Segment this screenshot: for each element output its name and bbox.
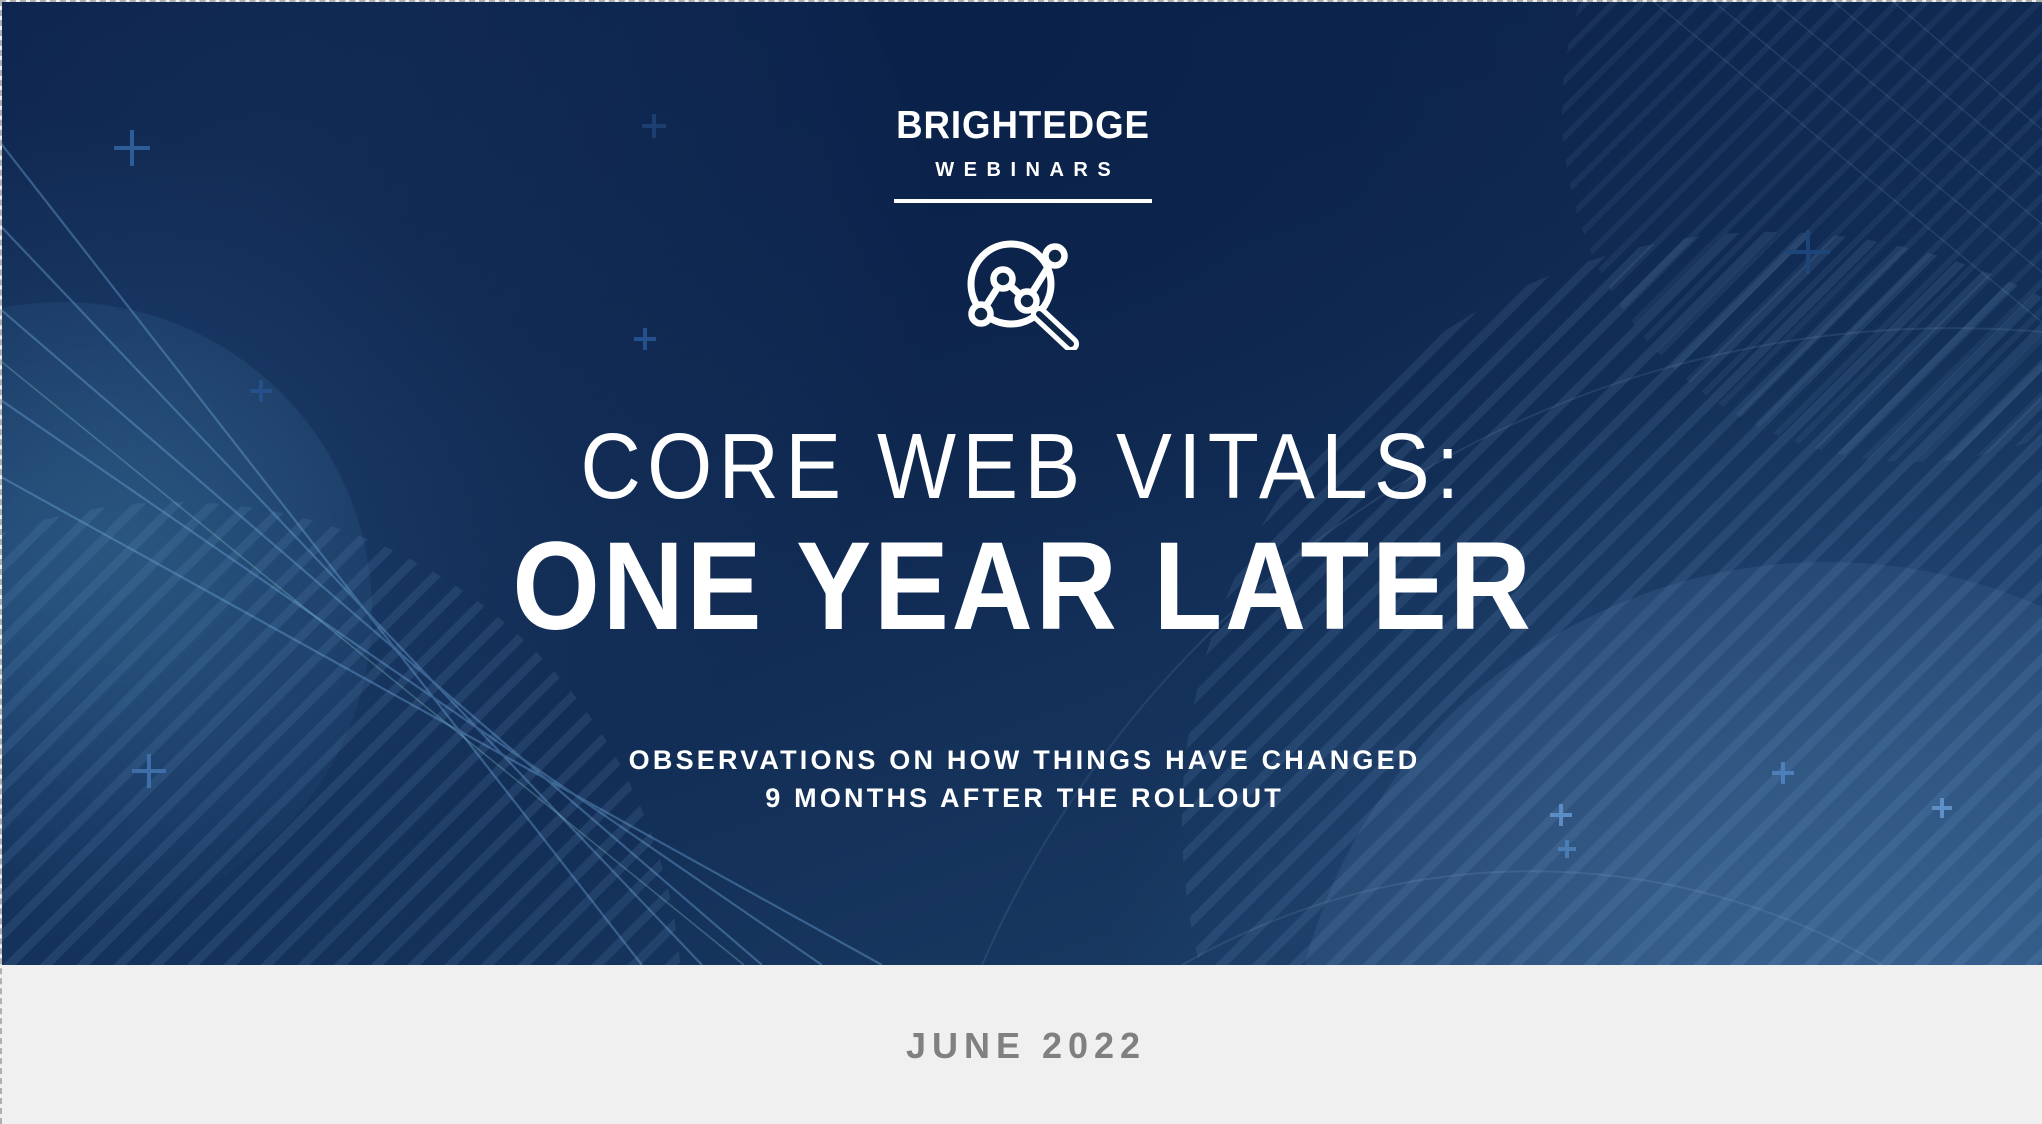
subtitle-line-2: 9 MONTHS AFTER THE ROLLOUT [2, 779, 2042, 817]
subtitle-line-1: OBSERVATIONS ON HOW THINGS HAVE CHANGED [2, 741, 2042, 779]
brand-logo-subtitle: WEBINARS [888, 160, 1158, 180]
presentation-slide: BRIGHTEDGE WEBINARS [0, 0, 2042, 1124]
page-title: CORE WEB VITALS: ONE YEAR LATER [2, 417, 2042, 649]
brand-logo: BRIGHTEDGE WEBINARS [888, 106, 1158, 203]
slide-footer: JUNE 2022 [2, 965, 2042, 1124]
footer-date: JUNE 2022 [900, 1025, 1146, 1067]
title-line-2: ONE YEAR LATER [104, 524, 1942, 649]
page-subtitle: OBSERVATIONS ON HOW THINGS HAVE CHANGED … [2, 741, 2042, 818]
analytics-magnifier-icon [959, 228, 1087, 355]
hero-background: BRIGHTEDGE WEBINARS [2, 2, 2042, 965]
brand-logo-rule [894, 199, 1152, 203]
brand-logo-wordmark: BRIGHTEDGE [896, 106, 1150, 145]
slide-content: BRIGHTEDGE WEBINARS [2, 2, 2042, 965]
title-line-1: CORE WEB VITALS: [104, 417, 1942, 516]
